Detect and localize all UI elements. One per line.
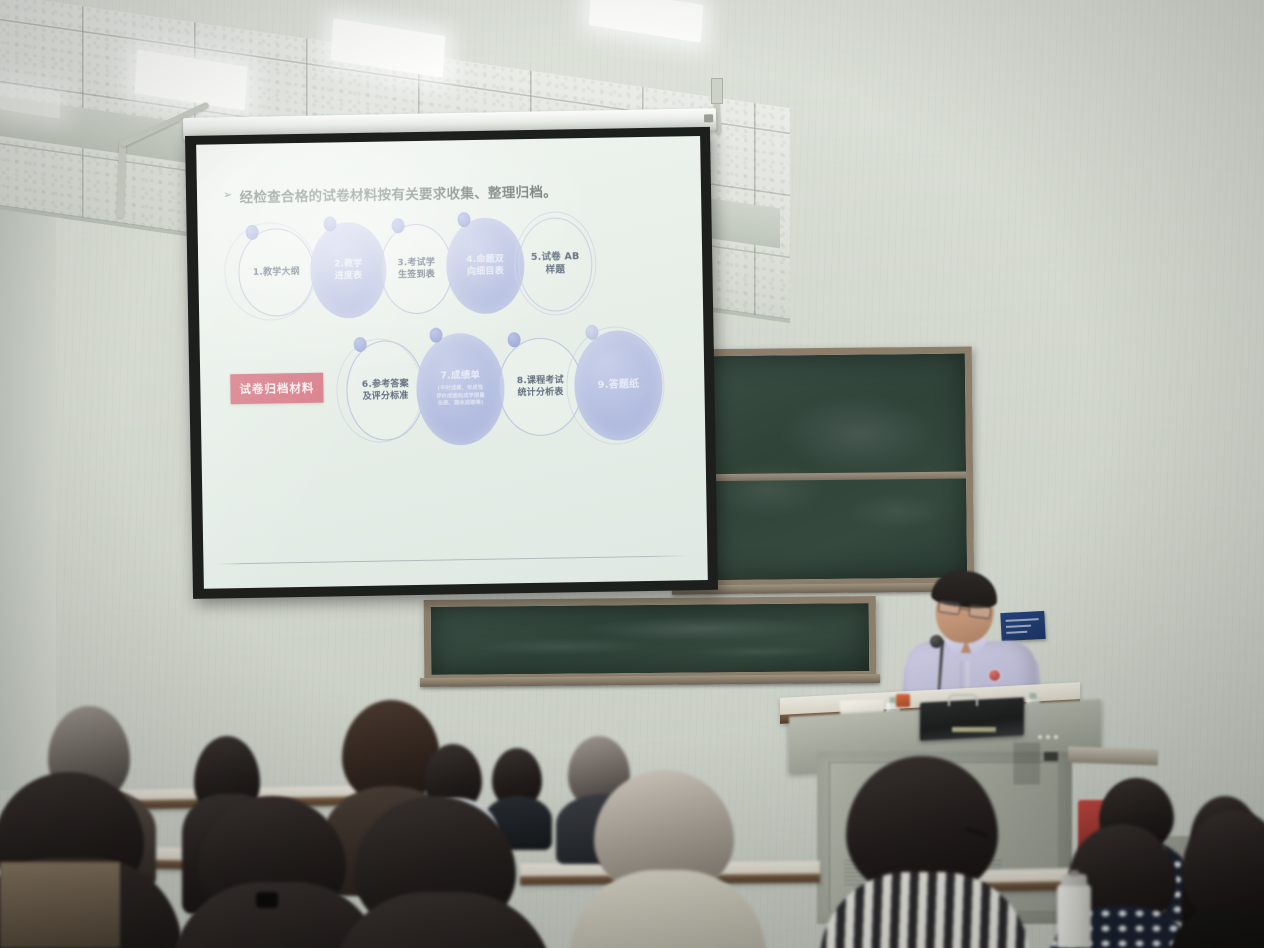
bubble-7-subtext: (平时成绩、形成性 评价成绩构成学期量 化表、期末成绩等) <box>436 385 485 409</box>
bubble-1-line1: 1.教学大纲 <box>253 266 300 279</box>
audience-person-front-4 <box>570 770 770 948</box>
blackboard-rail <box>683 472 966 482</box>
lectern-button-1[interactable] <box>1038 735 1042 739</box>
bubble-5-line1: 5.试卷 AB <box>531 251 580 265</box>
audience-person-front-5 <box>820 756 1040 948</box>
bubble-4-dot <box>457 212 470 227</box>
bubble-3-line1: 3.考试学 <box>397 257 435 270</box>
chalk-residue <box>682 354 967 581</box>
body <box>570 870 766 948</box>
bubble-3: 3.考试学 生签到表 <box>380 223 454 314</box>
thermos-knob <box>1069 870 1079 876</box>
thermos-lid <box>1061 874 1087 886</box>
lectern-buttons[interactable] <box>1038 735 1058 739</box>
projected-slide: ➢ 经检查合格的试卷材料按有关要求收集、整理归档。 1.教学大纲 2 <box>196 136 708 589</box>
bubble-4-line1: 4.命题双 <box>466 253 504 266</box>
chalk-residue-lower <box>431 603 870 675</box>
projection-screen: ➢ 经检查合格的试卷材料按有关要求收集、整理归档。 1.教学大纲 2 <box>185 127 718 599</box>
slide-row-1: 1.教学大纲 2.教学 进度表 3.考试学 <box>229 213 597 325</box>
bubble-group-7: 7.成绩单 (平时成绩、形成性 评价成绩构成学期量 化表、期末成绩等) <box>413 326 507 450</box>
microphone-head <box>930 635 943 648</box>
blackboard-main <box>675 346 974 587</box>
lectern-name-label <box>1044 752 1058 761</box>
hair-clip <box>256 892 278 908</box>
red-cup <box>896 694 910 707</box>
bubble-8-line2: 统计分析表 <box>517 386 563 399</box>
bubble-2-dot <box>323 216 336 231</box>
slide-row-2: 6.参考答案 及评分标准 7.成绩单 (平时成绩、形成性 评价成绩构成学期量 化… <box>339 322 669 454</box>
screen-bracket-right <box>711 78 723 104</box>
bubble-3-line2: 生签到表 <box>398 269 435 282</box>
bottle-cap-2 <box>1030 693 1037 699</box>
side-bench-right <box>1068 746 1159 765</box>
bubble-7-dot <box>429 328 442 343</box>
slide-content: ➢ 经检查合格的试卷材料按有关要求收集、整理归档。 1.教学大纲 2 <box>196 136 708 589</box>
audience-person-front-3 <box>326 796 576 948</box>
lecture-hall-scene: ➢ 经检查合格的试卷材料按有关要求收集、整理归档。 1.教学大纲 2 <box>0 0 1264 948</box>
bubble-1-dot <box>246 225 259 240</box>
bullet-arrow-icon: ➢ <box>223 186 233 203</box>
bubble-8-dot <box>507 332 520 347</box>
bubble-5-line2: 样题 <box>546 264 566 277</box>
bubble-8-line1: 8.课程考试 <box>517 374 564 387</box>
slide-footer-rule <box>215 555 689 564</box>
category-tag: 试卷归档材料 <box>230 373 324 405</box>
presenter-badge <box>988 669 1001 682</box>
bubble-2-line2: 进度表 <box>335 270 363 283</box>
bubble-7-line1: 7.成绩单 <box>440 370 480 384</box>
bubble-7: 7.成绩单 (平时成绩、形成性 评价成绩构成学期量 化表、期末成绩等) <box>415 332 505 446</box>
bubble-group-5: 5.试卷 AB 样题 <box>509 213 597 320</box>
blackboard-lower <box>424 596 877 682</box>
bubble-6-dot <box>354 337 367 352</box>
bubble-6-line2: 及评分标准 <box>362 390 408 403</box>
bubble-2: 2.教学 进度表 <box>310 222 388 319</box>
housing-end-cap <box>704 114 713 122</box>
laptop-handle <box>948 694 978 706</box>
bubble-9-dot <box>585 325 598 340</box>
bubble-9-line1: 9.答题纸 <box>597 378 639 392</box>
chair-back-left <box>0 862 120 948</box>
lectern-led-strip <box>952 727 996 732</box>
bubble-4-line2: 向细目表 <box>467 265 504 278</box>
bubble-6-line1: 6.参考答案 <box>362 378 409 391</box>
bubble-group-9: 9.答题纸 <box>567 322 669 450</box>
thermos-bottle <box>1057 884 1091 948</box>
lectern-button-2[interactable] <box>1046 735 1050 739</box>
body <box>1168 902 1264 948</box>
lectern-button-3[interactable] <box>1054 735 1058 739</box>
body-striped-shirt <box>820 872 1030 948</box>
slide-title-text: 经检查合格的试卷材料按有关要求收集、整理归档。 <box>239 181 557 207</box>
audience-person-front-7 <box>1182 810 1264 948</box>
slide-title-row: ➢ 经检查合格的试卷材料按有关要求收集、整理归档。 <box>223 178 679 206</box>
bubble-2-line1: 2.教学 <box>334 258 363 271</box>
bubble-3-dot <box>391 218 404 233</box>
